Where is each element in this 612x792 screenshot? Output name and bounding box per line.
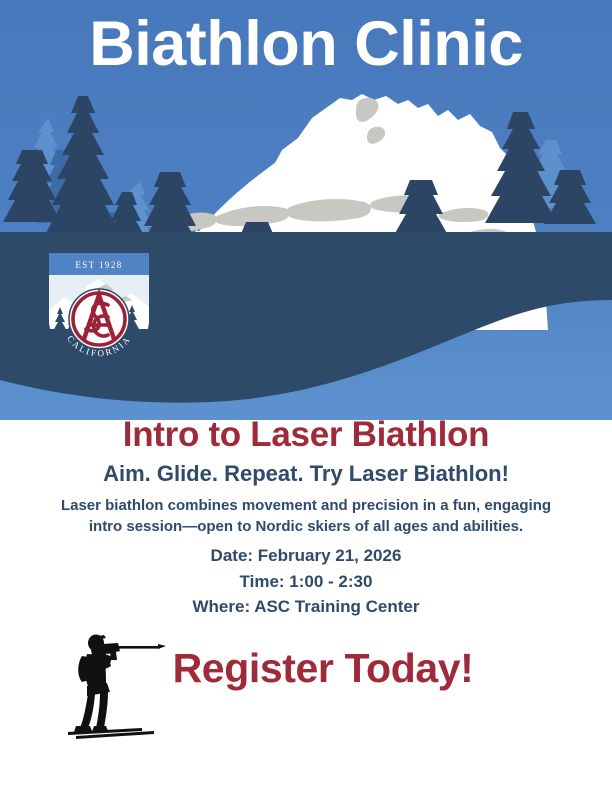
event-details-block: Date: February 21, 2026 Time: 1:00 - 2:3… <box>0 543 612 620</box>
headline: Intro to Laser Biathlon <box>0 414 612 455</box>
register-call-to-action: Register Today! <box>158 646 488 691</box>
header-scene: Biathlon Clinic <box>0 0 612 420</box>
logo-established-text: EST 1928 <box>75 260 122 270</box>
shield-logo-icon: EST 1928 CALIFORNIA <box>44 247 154 369</box>
description-line-2: intro session—open to Nordic skiers of a… <box>42 516 570 538</box>
flyer-page: Biathlon Clinic <box>0 0 612 792</box>
flyer-body: Intro to Laser Biathlon Aim. Glide. Repe… <box>0 414 612 620</box>
event-location: Where: ASC Training Center <box>0 594 612 620</box>
event-time: Time: 1:00 - 2:30 <box>0 569 612 595</box>
event-date: Date: February 21, 2026 <box>0 543 612 569</box>
description-block: Laser biathlon combines movement and pre… <box>0 495 612 539</box>
call-to-action-row: Register Today! <box>0 622 612 742</box>
description-line-1: Laser biathlon combines movement and pre… <box>42 495 570 517</box>
tagline: Aim. Glide. Repeat. Try Laser Biathlon! <box>0 461 612 487</box>
page-title: Biathlon Clinic <box>0 8 612 80</box>
